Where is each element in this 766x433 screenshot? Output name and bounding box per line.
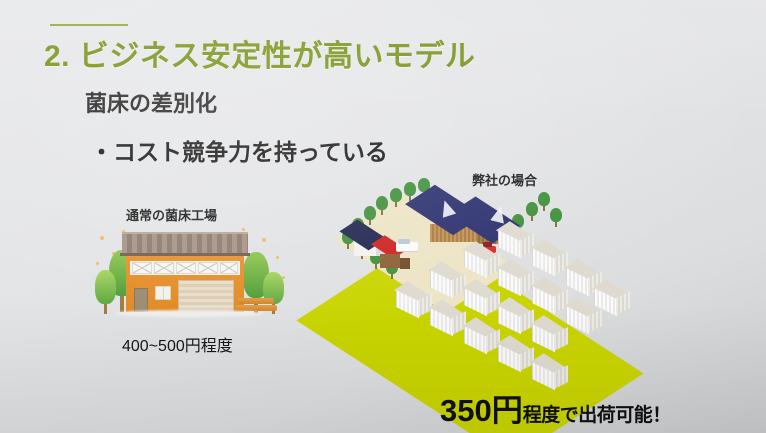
shed-wall [380,254,400,268]
bullet-point-text: ・コスト競争力を持っている [90,133,388,167]
subtitle-text: 菌床の差別化 [85,86,217,118]
van-window [398,239,410,244]
price-number: 350円 [440,393,523,428]
container-unit [592,278,638,312]
shed-wall-side [400,258,410,269]
isometric-farm-illustration [330,182,750,397]
container-unit [530,352,576,386]
title-accent-rule [50,24,128,26]
price-tail: 程度で出荷可能！ [523,405,671,426]
factory-illustration [92,218,288,323]
factory-price-label: 400~500円程度 [122,332,233,356]
page-title: 2. ビジネス安定性が高いモデル [44,31,475,75]
slide-canvas: 2. ビジネス安定性が高いモデル 菌床の差別化 ・コスト競争力を持っている 通常… [0,0,766,433]
shipping-price-caption: 350円程度で出荷可能！ [440,385,671,430]
